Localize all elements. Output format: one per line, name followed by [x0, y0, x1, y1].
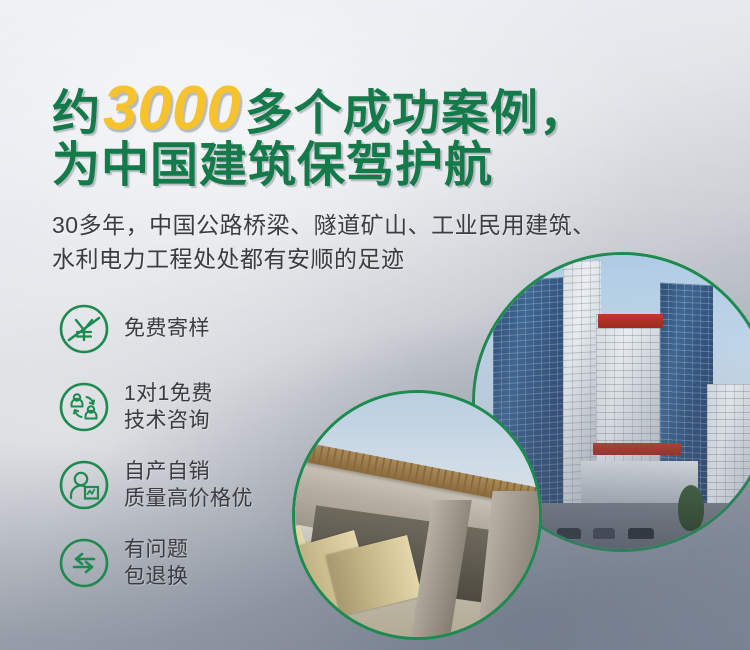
street-tree-icon: [678, 485, 704, 531]
subtitle-line-1: 30多年，中国公路桥梁、隧道矿山、工业民用建筑、: [52, 208, 596, 242]
subtitle-line-2: 水利电力工程处处都有安顺的足迹: [52, 242, 596, 276]
building-facade-sign: [593, 443, 681, 455]
feature-label-line2: 包退换: [124, 563, 189, 590]
headline-suffix: 多个成功案例，: [245, 87, 588, 140]
one-to-one-consult-icon: [58, 381, 110, 433]
feature-item-return-exchange: 有问题 包退换: [58, 532, 253, 594]
bridge-scene: [295, 393, 539, 637]
parked-car: [593, 528, 615, 539]
feature-label-line1: 自产自销: [124, 458, 253, 485]
parked-car: [628, 528, 654, 539]
feature-label-line1: 有问题: [124, 536, 189, 563]
parked-car: [557, 528, 581, 539]
feature-item-self-production: 自产自销 质量高价格优: [58, 454, 253, 516]
return-exchange-icon: [58, 537, 110, 589]
feature-list: 免费寄样 1对1免费 技术咨询: [58, 298, 253, 610]
feature-label-line2: 技术咨询: [124, 407, 213, 434]
feature-label: 自产自销 质量高价格优: [124, 458, 253, 513]
headline-number: 3000: [101, 74, 245, 143]
self-produce-sell-icon: [58, 459, 110, 511]
page-title-line2: 为中国建筑保驾护航: [52, 142, 493, 190]
feature-label-line2: 质量高价格优: [124, 485, 253, 512]
feature-label-line1: 1对1免费: [124, 380, 213, 407]
feature-label-line1: 免费寄样: [124, 317, 210, 340]
feature-label: 1对1免费 技术咨询: [124, 380, 213, 435]
feature-label: 免费寄样: [124, 315, 210, 342]
promo-banner: 约3000多个成功案例， 为中国建筑保驾护航 30多年，中国公路桥梁、隧道矿山、…: [0, 0, 750, 650]
no-fee-yuan-icon: [58, 303, 110, 355]
concrete-bridge-photo: [292, 390, 542, 640]
subtitle: 30多年，中国公路桥梁、隧道矿山、工业民用建筑、 水利电力工程处处都有安顺的足迹: [52, 208, 596, 276]
feature-label: 有问题 包退换: [124, 536, 189, 591]
building-rooftop-sign: [598, 314, 663, 329]
feature-item-consultation: 1对1免费 技术咨询: [58, 376, 253, 438]
headline-prefix: 约: [52, 87, 101, 140]
page-title: 约3000多个成功案例，: [52, 78, 588, 140]
feature-item-free-sample: 免费寄样: [58, 298, 253, 360]
